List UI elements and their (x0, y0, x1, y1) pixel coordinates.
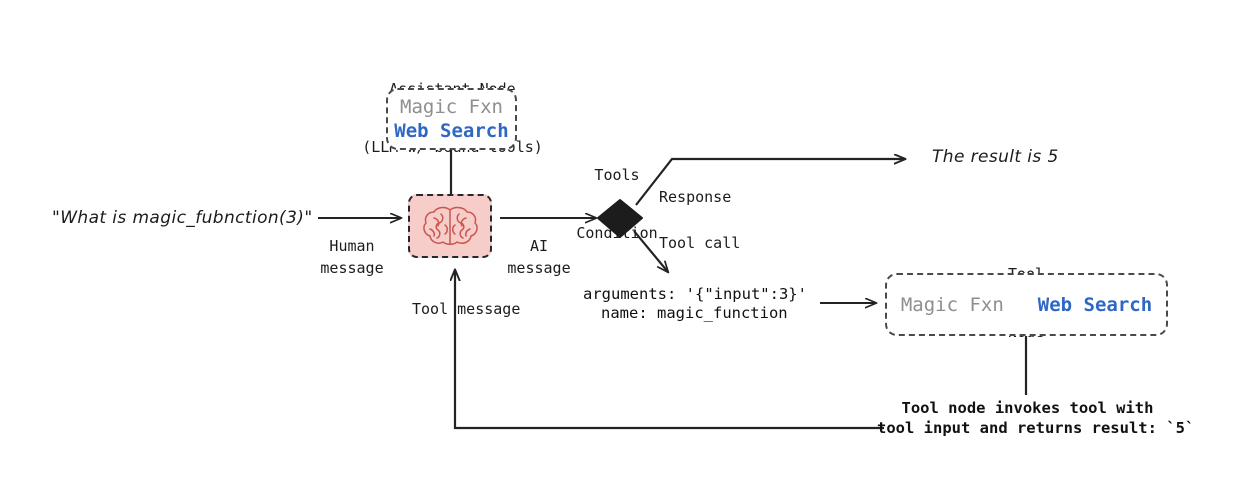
final-answer-text: The result is 5 (932, 147, 1059, 169)
tool-node-web-search[interactable]: Web Search (1038, 294, 1152, 316)
assistant-tool-web-search[interactable]: Web Search (394, 120, 508, 142)
tool-call-arguments: arguments: '{"input":3}' (583, 285, 807, 305)
edge-label-tool-message: Tool message (412, 300, 520, 319)
tool-call-name: name: magic_function (601, 304, 788, 324)
edge-label-human-message-2: message (309, 221, 395, 317)
human-message-line2: message (309, 259, 395, 278)
tool-node-box[interactable]: Magic Fxn Web Search (885, 273, 1168, 336)
tools-condition-line1: Tools (548, 166, 686, 185)
user-input-text: "What is magic_fubnction(3)" (52, 208, 313, 230)
diagram-canvas: Assistant Node (LLM w/ bound tools) Magi… (0, 0, 1259, 492)
edge-label-response: Response (659, 188, 731, 207)
tool-node-magic-fxn[interactable]: Magic Fxn (901, 294, 1004, 316)
assistant-bound-tools-box[interactable]: Magic Fxn Web Search (386, 88, 517, 150)
assistant-tool-magic-fxn[interactable]: Magic Fxn (400, 96, 503, 118)
edge-label-tool-call: Tool call (659, 234, 740, 253)
tool-result-note-line2: tool input and returns result: `5` (877, 419, 1177, 439)
tool-result-note-line1: Tool node invokes tool with (880, 399, 1175, 419)
brain-icon (421, 204, 479, 248)
assistant-node[interactable] (408, 194, 492, 258)
